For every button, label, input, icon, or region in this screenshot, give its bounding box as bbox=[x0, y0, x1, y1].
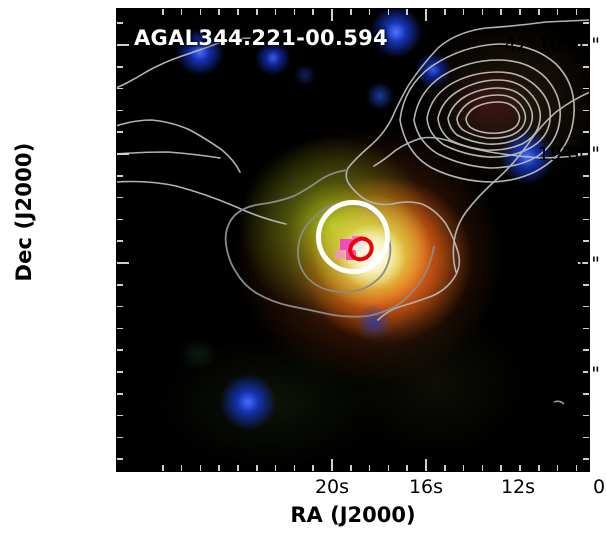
x-axis-title: RA (J2000) bbox=[116, 503, 590, 527]
minor-tick-y bbox=[116, 349, 123, 351]
minor-tick-y bbox=[116, 219, 123, 221]
minor-tick-y bbox=[116, 328, 123, 330]
minor-tick-x bbox=[294, 8, 296, 15]
minor-tick-y bbox=[583, 393, 590, 395]
contour-closed-7 bbox=[466, 102, 520, 133]
minor-tick-x bbox=[538, 8, 540, 15]
minor-tick-x bbox=[200, 8, 202, 15]
major-tick-x bbox=[425, 459, 427, 472]
minor-tick-x bbox=[181, 8, 183, 15]
contour-closed-5 bbox=[448, 88, 532, 144]
minor-tick-y bbox=[583, 175, 590, 177]
minor-tick-y bbox=[116, 131, 123, 133]
minor-tick-x bbox=[237, 8, 239, 15]
minor-tick-x bbox=[312, 8, 314, 15]
minor-tick-x bbox=[369, 8, 371, 15]
minor-tick-x bbox=[294, 465, 296, 472]
minor-tick-y bbox=[116, 393, 123, 395]
x-tick-label: 08s bbox=[593, 476, 606, 498]
blue-star-8 bbox=[356, 304, 392, 340]
contour-level-1b bbox=[453, 92, 590, 272]
minor-tick-x bbox=[444, 465, 446, 472]
minor-tick-x bbox=[181, 465, 183, 472]
minor-tick-y bbox=[116, 437, 123, 439]
contour-level-3b bbox=[116, 152, 220, 158]
minor-tick-x bbox=[237, 465, 239, 472]
minor-tick-y bbox=[116, 88, 123, 90]
minor-tick-y bbox=[116, 197, 123, 199]
minor-tick-y bbox=[116, 110, 123, 112]
y-axis-title: Dec (J2000) bbox=[12, 102, 36, 322]
minor-tick-x bbox=[500, 465, 502, 472]
minor-tick-y bbox=[116, 240, 123, 242]
minor-tick-x bbox=[256, 465, 258, 472]
blue-star-7 bbox=[220, 374, 276, 430]
major-tick-x bbox=[425, 8, 427, 21]
minor-tick-y bbox=[116, 371, 123, 373]
x-tick-label: 20s bbox=[315, 476, 349, 498]
compact-source-ellipse[interactable] bbox=[343, 232, 378, 267]
minor-tick-x bbox=[406, 8, 408, 15]
minor-tick-y bbox=[583, 197, 590, 199]
source-name-title: AGAL344.221-00.594 bbox=[134, 26, 388, 50]
minor-tick-x bbox=[275, 8, 277, 15]
contour-closed-4 bbox=[438, 80, 540, 150]
contour-level-bottom bbox=[116, 182, 286, 225]
minor-tick-y bbox=[583, 328, 590, 330]
minor-tick-y bbox=[116, 22, 123, 24]
minor-tick-x bbox=[218, 465, 220, 472]
minor-tick-x bbox=[576, 8, 578, 15]
minor-tick-y bbox=[583, 22, 590, 24]
contour-fragment-se bbox=[554, 401, 564, 404]
minor-tick-x bbox=[557, 8, 559, 15]
minor-tick-x bbox=[444, 8, 446, 15]
minor-tick-x bbox=[350, 8, 352, 15]
sky-image-panel[interactable]: AGAL344.221-00.594 bbox=[116, 8, 590, 472]
contour-closed-6 bbox=[457, 95, 525, 138]
minor-tick-x bbox=[482, 8, 484, 15]
minor-tick-y bbox=[116, 66, 123, 68]
contour-level-3 bbox=[116, 120, 240, 172]
minor-tick-y bbox=[583, 306, 590, 308]
minor-tick-x bbox=[312, 465, 314, 472]
minor-tick-x bbox=[519, 465, 521, 472]
minor-tick-x bbox=[275, 465, 277, 472]
blue-star-4 bbox=[415, 52, 451, 88]
minor-tick-y bbox=[583, 88, 590, 90]
minor-tick-x bbox=[388, 465, 390, 472]
y-tick-label: -42°18'00" bbox=[494, 34, 606, 56]
minor-tick-x bbox=[162, 8, 164, 15]
minor-tick-x bbox=[350, 465, 352, 472]
x-tick-label: 12s bbox=[501, 476, 535, 498]
major-tick-x bbox=[331, 459, 333, 472]
minor-tick-x bbox=[369, 465, 371, 472]
minor-tick-y bbox=[583, 458, 590, 460]
minor-tick-y bbox=[583, 219, 590, 221]
x-tick-label: 16s bbox=[409, 476, 443, 498]
minor-tick-x bbox=[463, 465, 465, 472]
dust-peak-ne bbox=[446, 66, 530, 146]
contour-level-1 bbox=[346, 20, 590, 320]
minor-tick-y bbox=[583, 66, 590, 68]
major-tick-x bbox=[331, 8, 333, 21]
minor-tick-y bbox=[116, 175, 123, 177]
y-tick-label: 21'00" bbox=[494, 363, 606, 385]
blue-star-9 bbox=[294, 64, 316, 86]
minor-tick-y bbox=[583, 284, 590, 286]
blue-star-10 bbox=[178, 338, 218, 370]
minor-tick-x bbox=[256, 8, 258, 15]
minor-tick-x bbox=[162, 465, 164, 472]
major-tick-y bbox=[116, 153, 129, 155]
minor-tick-x bbox=[557, 465, 559, 472]
minor-tick-y bbox=[116, 415, 123, 417]
minor-tick-y bbox=[116, 284, 123, 286]
minor-tick-y bbox=[583, 415, 590, 417]
minor-tick-y bbox=[116, 458, 123, 460]
major-tick-y bbox=[116, 262, 129, 264]
diffuse-background-sw bbox=[156, 338, 386, 468]
minor-tick-y bbox=[583, 131, 590, 133]
y-tick-label: 19'00" bbox=[494, 143, 606, 165]
y-tick-label: 20'00" bbox=[494, 253, 606, 275]
minor-tick-x bbox=[500, 8, 502, 15]
minor-tick-y bbox=[583, 240, 590, 242]
minor-tick-y bbox=[583, 110, 590, 112]
minor-tick-x bbox=[388, 8, 390, 15]
compact-source-marker-group[interactable] bbox=[344, 236, 374, 264]
minor-tick-x bbox=[482, 465, 484, 472]
minor-tick-x bbox=[406, 465, 408, 472]
minor-tick-x bbox=[218, 8, 220, 15]
minor-tick-x bbox=[519, 8, 521, 15]
minor-tick-y bbox=[583, 349, 590, 351]
major-tick-y bbox=[116, 44, 129, 46]
minor-tick-y bbox=[116, 306, 123, 308]
minor-tick-x bbox=[576, 465, 578, 472]
minor-tick-x bbox=[538, 465, 540, 472]
minor-tick-x bbox=[463, 8, 465, 15]
blue-star-5 bbox=[366, 82, 394, 110]
minor-tick-x bbox=[200, 465, 202, 472]
minor-tick-y bbox=[583, 437, 590, 439]
figure-root: AGAL344.221-00.594 Dec (J2000) RA (J2000… bbox=[0, 0, 606, 537]
